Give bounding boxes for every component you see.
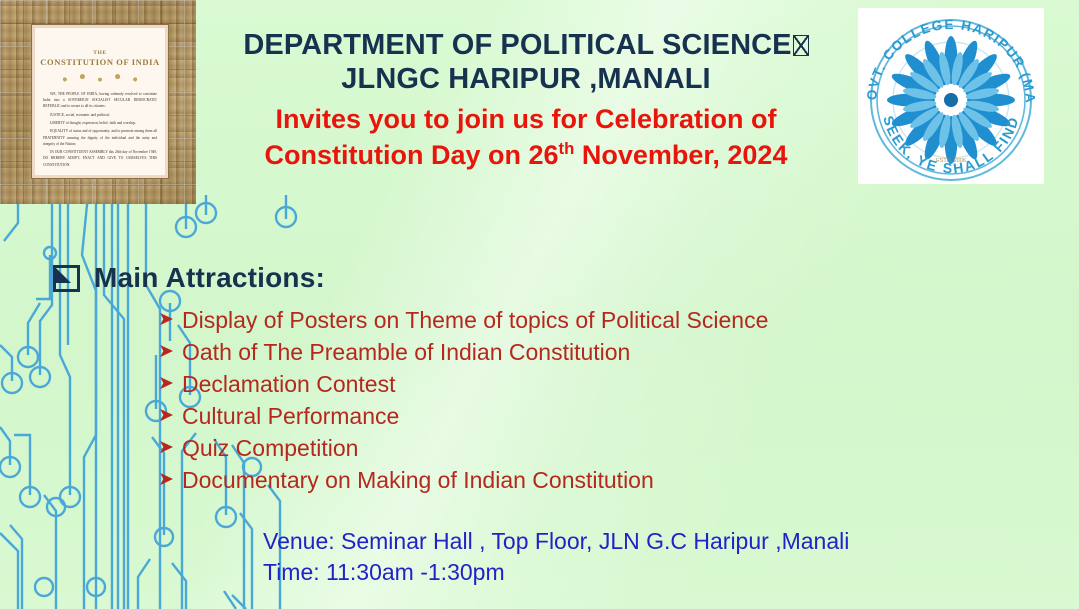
arrow-right-icon: ➤ (158, 339, 174, 363)
square-bullet-icon (53, 265, 80, 292)
preamble-title-main: CONSTITUTION OF INDIA (40, 57, 160, 67)
list-item-label: Cultural Performance (182, 403, 399, 429)
list-item: ➤ Quiz Competition (158, 435, 958, 465)
arrow-right-icon: ➤ (158, 435, 174, 459)
preamble-title-small: THE (35, 50, 165, 57)
list-item-label: Quiz Competition (182, 435, 358, 461)
venue-line: Venue: Seminar Hall , Top Floor, JLN G.C… (263, 526, 849, 557)
main-attractions-heading: Main Attractions: (53, 262, 325, 294)
arrow-right-icon: ➤ (158, 371, 174, 395)
list-item-label: Oath of The Preamble of Indian Constitut… (182, 339, 630, 365)
list-item: ➤ Oath of The Preamble of Indian Constit… (158, 339, 958, 369)
list-item-label: Declamation Contest (182, 371, 396, 397)
header-date-prefix: Constitution Day on 26 (265, 140, 559, 170)
arrow-right-icon: ➤ (158, 467, 174, 491)
arrow-right-icon: ➤ (158, 307, 174, 331)
header-line-invite: Invites you to join us for Celebration o… (196, 102, 856, 137)
main-attractions-label: Main Attractions: (94, 262, 325, 294)
header-line-department: DEPARTMENT OF POLITICAL SCIENCE (196, 28, 856, 62)
header-date-suffix: November, 2024 (574, 140, 787, 170)
list-item: ➤ Documentary on Making of Indian Consti… (158, 467, 958, 497)
preamble-para: IN OUR CONSTITUENT ASSEMBLY this 26th da… (43, 149, 157, 168)
preamble-para: JUSTICE, social, economic and political; (43, 112, 157, 118)
header-line-college: JLNGC HARIPUR ,MANALI (196, 62, 856, 96)
venue-details: Venue: Seminar Hall , Top Floor, JLN G.C… (263, 526, 849, 588)
preamble-para: WE, THE PEOPLE OF INDIA, having solemnly… (43, 91, 157, 110)
header-line-date: Constitution Day on 26th November, 2024 (196, 138, 856, 173)
list-item: ➤ Display of Posters on Theme of topics … (158, 307, 958, 337)
preamble-para: EQUALITY of status and of opportunity; a… (43, 128, 157, 147)
list-item: ➤ Cultural Performance (158, 403, 958, 433)
header-date-ordinal: th (559, 139, 575, 158)
list-item: ➤ Declamation Contest (158, 371, 958, 401)
preamble-text: WE, THE PEOPLE OF INDIA, having solemnly… (43, 91, 157, 168)
college-logo-svg: JLN GOVT. COLLEGE HARIPUR (MANALI) SEEK,… (858, 8, 1044, 184)
arrow-right-icon: ➤ (158, 403, 174, 427)
main-attractions-list: ➤ Display of Posters on Theme of topics … (158, 307, 958, 499)
poster-canvas: THE CONSTITUTION OF INDIA WE, THE PEOPLE… (0, 0, 1079, 609)
college-logo: JLN GOVT. COLLEGE HARIPUR (MANALI) SEEK,… (858, 8, 1044, 184)
time-line: Time: 11:30am -1:30pm (263, 557, 849, 588)
constitution-preamble-image: THE CONSTITUTION OF INDIA WE, THE PEOPLE… (0, 0, 196, 204)
list-item-label: Display of Posters on Theme of topics of… (182, 307, 768, 333)
preamble-panel: THE CONSTITUTION OF INDIA WE, THE PEOPLE… (32, 25, 168, 178)
list-item-label: Documentary on Making of Indian Constitu… (182, 467, 654, 493)
preamble-para: LIBERTY of thought, expression, belief, … (43, 120, 157, 126)
floral-divider-icon (45, 71, 155, 85)
missing-glyph-box-icon (793, 35, 809, 56)
header-department-text: DEPARTMENT OF POLITICAL SCIENCE (243, 29, 791, 61)
poster-header: DEPARTMENT OF POLITICAL SCIENCE JLNGC HA… (196, 28, 856, 173)
preamble-title: THE CONSTITUTION OF INDIA (35, 50, 165, 69)
logo-estd-text: ESTD. 2006 (936, 158, 966, 164)
